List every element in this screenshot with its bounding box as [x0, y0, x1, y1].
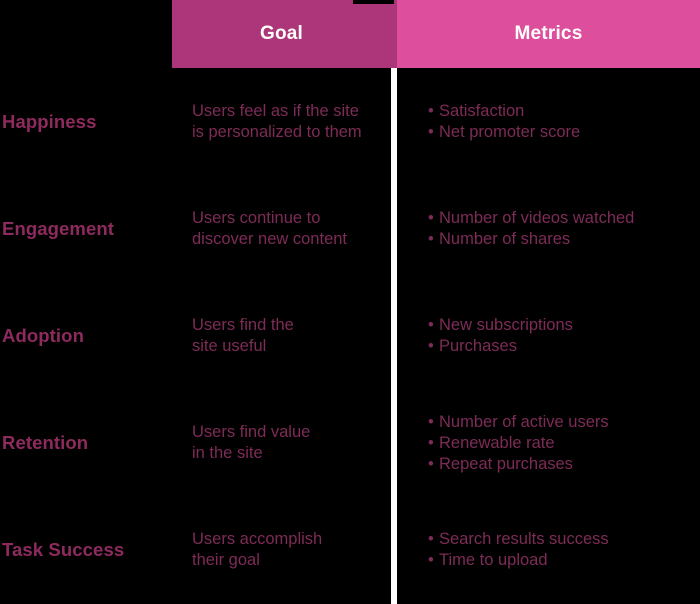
row-label-engagement: Engagement: [0, 175, 172, 282]
metric-label: Repeat purchases: [439, 455, 573, 473]
bullet-icon: •: [428, 229, 439, 250]
goal-cell-happiness: Users feel as if the site is personalize…: [172, 68, 391, 175]
goal-line: Users find the: [192, 315, 375, 336]
goal-line: Users continue to: [192, 208, 375, 229]
row-label-text: Task Success: [2, 539, 124, 561]
row-label-text: Retention: [2, 432, 88, 454]
goal-line: Users find value: [192, 422, 375, 443]
row-label-text: Happiness: [2, 111, 96, 133]
row-label-text: Engagement: [2, 218, 114, 240]
column-header-metrics-label: Metrics: [515, 23, 583, 45]
metric-list-item: •Number of videos watched: [428, 208, 684, 229]
bullet-icon: •: [428, 315, 439, 336]
metric-label: Number of active users: [439, 413, 609, 431]
metric-list-item: •New subscriptions: [428, 315, 684, 336]
row-label-adoption: Adoption: [0, 282, 172, 389]
bullet-icon: •: [428, 433, 439, 454]
goal-line: their goal: [192, 550, 375, 571]
column-header-goal: Goal: [172, 0, 391, 68]
goal-line: site useful: [192, 336, 375, 357]
metric-list-item: •Time to upload: [428, 550, 684, 571]
goal-line: in the site: [192, 443, 375, 464]
metric-label: Number of videos watched: [439, 209, 634, 227]
goal-line: Users accomplish: [192, 529, 375, 550]
metrics-cell-adoption: •New subscriptions •Purchases: [397, 282, 700, 389]
metric-list-item: •Net promoter score: [428, 122, 684, 143]
metric-list-item: •Number of active users: [428, 412, 684, 433]
goal-cell-retention: Users find value in the site: [172, 390, 391, 497]
bullet-icon: •: [428, 336, 439, 357]
column-header-goal-label: Goal: [260, 23, 303, 45]
metric-label: Search results success: [439, 530, 609, 548]
metrics-cell-task-success: •Search results success •Time to upload: [397, 497, 700, 604]
goal-cell-adoption: Users find the site useful: [172, 282, 391, 389]
metric-list-item: •Repeat purchases: [428, 454, 684, 475]
metric-label: Time to upload: [439, 551, 548, 569]
row-label-task-success: Task Success: [0, 497, 172, 604]
metric-list-item: •Search results success: [428, 529, 684, 550]
metric-label: Purchases: [439, 337, 517, 355]
bullet-icon: •: [428, 101, 439, 122]
goal-line: Users feel as if the site: [192, 101, 375, 122]
top-edge-notch: [353, 0, 394, 4]
goal-line: is personalized to them: [192, 122, 375, 143]
row-label-retention: Retention: [0, 390, 172, 497]
bullet-icon: •: [428, 208, 439, 229]
goal-line: discover new content: [192, 229, 375, 250]
metrics-cell-happiness: •Satisfaction •Net promoter score: [397, 68, 700, 175]
metric-label: Net promoter score: [439, 123, 580, 141]
column-header-metrics: Metrics: [397, 0, 700, 68]
metric-label: Satisfaction: [439, 102, 524, 120]
bullet-icon: •: [428, 529, 439, 550]
goal-cell-task-success: Users accomplish their goal: [172, 497, 391, 604]
metric-list-item: •Number of shares: [428, 229, 684, 250]
metric-list-item: •Purchases: [428, 336, 684, 357]
heart-framework-table: Goal Metrics Happiness Users feel as if …: [0, 0, 700, 604]
metric-label: Number of shares: [439, 230, 570, 248]
metric-label: New subscriptions: [439, 316, 573, 334]
metrics-cell-engagement: •Number of videos watched •Number of sha…: [397, 175, 700, 282]
bullet-icon: •: [428, 454, 439, 475]
bullet-icon: •: [428, 122, 439, 143]
row-label-happiness: Happiness: [0, 68, 172, 175]
table-corner-cell: [0, 0, 172, 68]
bullet-icon: •: [428, 412, 439, 433]
metrics-cell-retention: •Number of active users •Renewable rate …: [397, 390, 700, 497]
goal-cell-engagement: Users continue to discover new content: [172, 175, 391, 282]
metric-list-item: •Satisfaction: [428, 101, 684, 122]
bullet-icon: •: [428, 550, 439, 571]
row-label-text: Adoption: [2, 325, 84, 347]
metric-label: Renewable rate: [439, 434, 555, 452]
metric-list-item: •Renewable rate: [428, 433, 684, 454]
